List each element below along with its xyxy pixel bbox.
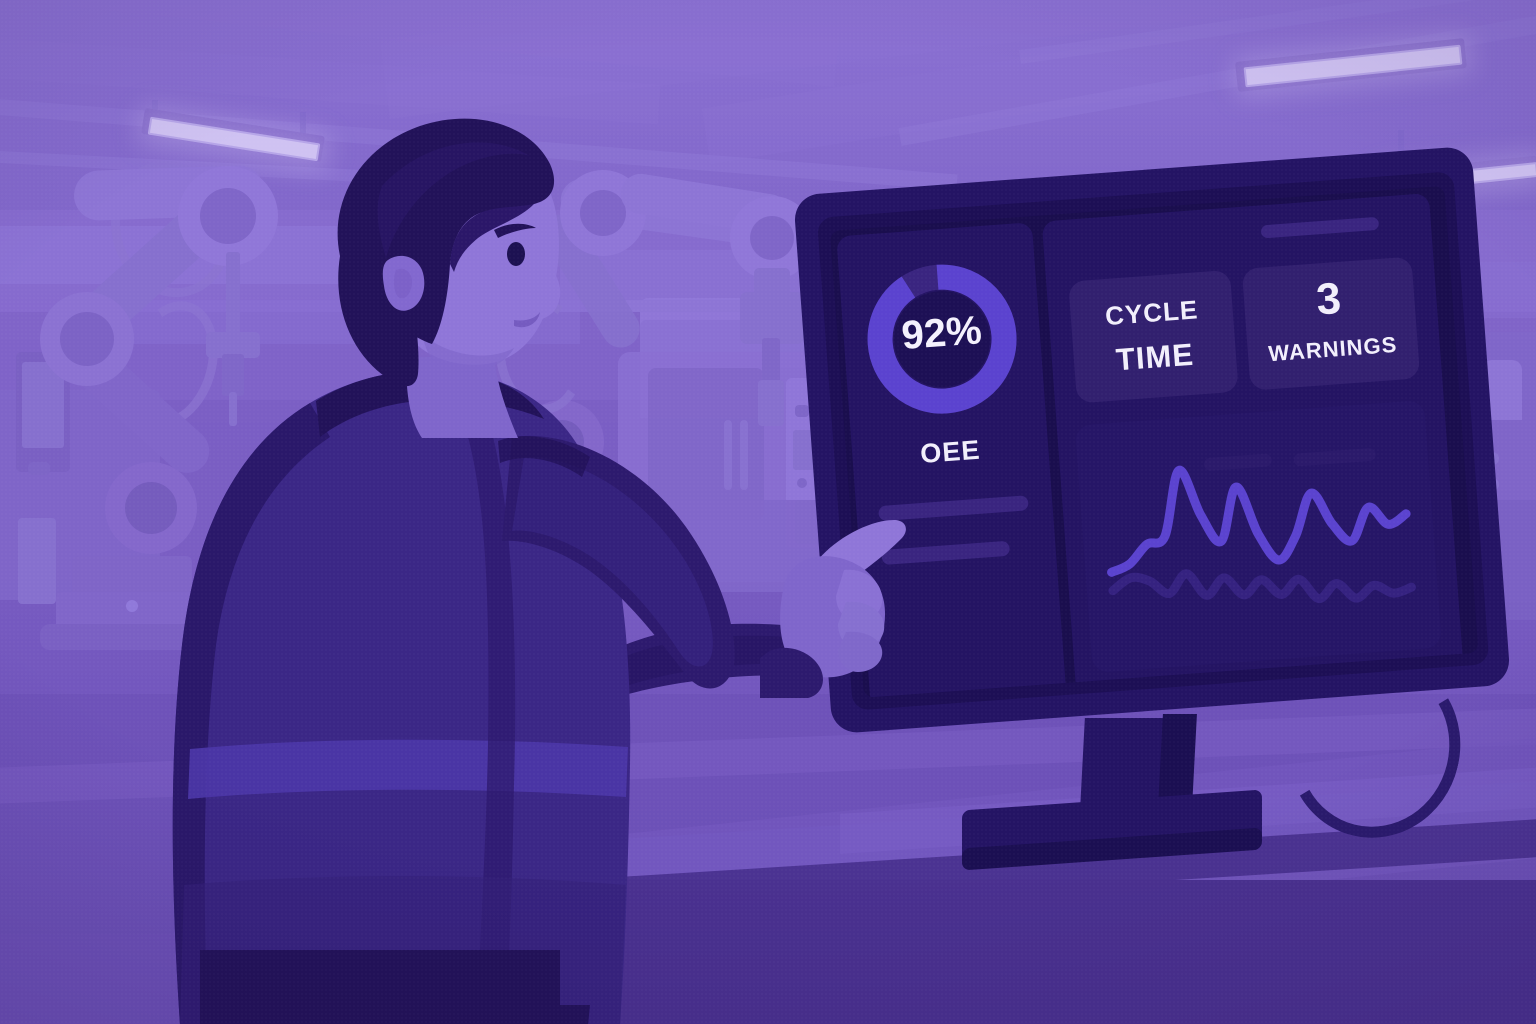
robot-center-tool-shaft	[762, 338, 780, 384]
cnc-panel-button	[797, 478, 807, 488]
operator-head-shape	[282, 108, 582, 438]
robot-center-joint-hub	[750, 216, 794, 260]
cycle-time-line1: CYCLE	[1070, 292, 1234, 335]
operator-torso-shape	[120, 345, 740, 1024]
cnc-panel-button	[795, 405, 809, 417]
warnings-count: 3	[1243, 268, 1416, 330]
robot-center-end-effector	[758, 380, 784, 426]
operator-hand-shape	[760, 498, 940, 698]
cabinet-left-base	[18, 518, 56, 604]
operator-legs	[180, 950, 600, 1024]
factory-dashboard-scene: 92% OEE CYCLE TIME 3 WARNINGS	[0, 0, 1536, 1024]
oee-label: OEE	[851, 430, 1049, 475]
robot-tool-shaft	[226, 252, 240, 344]
robot-center-tool-body	[740, 292, 804, 344]
oee-gauge: 92%	[859, 256, 1026, 423]
cycle-time-line2: TIME	[1073, 334, 1237, 382]
cnc-machine-handle	[740, 420, 748, 490]
operator-torso	[120, 345, 740, 1024]
trend-chart-lines	[1075, 400, 1442, 673]
trend-chart[interactable]	[1075, 400, 1442, 673]
operator-hand	[760, 498, 940, 698]
desk-front	[600, 880, 1536, 1024]
warnings-label: WARNINGS	[1247, 330, 1418, 368]
operator-legs-shape	[180, 950, 600, 1024]
metrics-panel[interactable]: CYCLE TIME 3 WARNINGS	[1042, 193, 1464, 696]
operator-head	[282, 108, 582, 438]
cycle-time-tile[interactable]: CYCLE TIME	[1068, 270, 1239, 404]
metrics-header-pill	[1261, 217, 1380, 239]
cabinet-left-indicator	[28, 462, 50, 475]
robot-mid-joint-a-hub	[580, 190, 626, 236]
robot-joint-elbow-hub	[60, 312, 114, 366]
warnings-tile[interactable]: 3 WARNINGS	[1242, 257, 1420, 391]
